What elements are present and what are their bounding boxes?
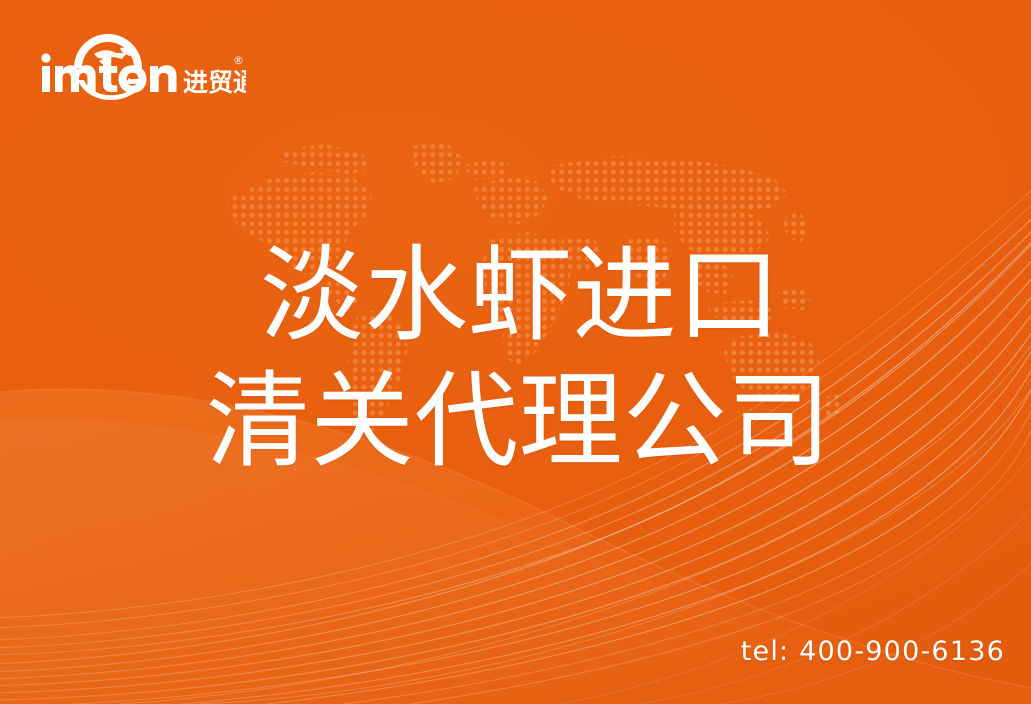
company-logo[interactable]: 进贸通 ®	[36, 28, 246, 104]
promo-banner: 进贸通 ® 淡水虾进口 清关代理公司 tel: 400-900-6136	[0, 0, 1031, 704]
contact-phone[interactable]: tel: 400-900-6136	[741, 636, 1005, 668]
registered-trademark-icon: ®	[233, 54, 244, 67]
logo-wordmark	[41, 53, 176, 93]
logo-chinese-name: 进贸通	[183, 68, 246, 97]
headline-line-2: 清关代理公司	[0, 358, 1031, 484]
headline-line-1: 淡水虾进口	[0, 232, 1031, 358]
page-title: 淡水虾进口 清关代理公司	[0, 232, 1031, 484]
